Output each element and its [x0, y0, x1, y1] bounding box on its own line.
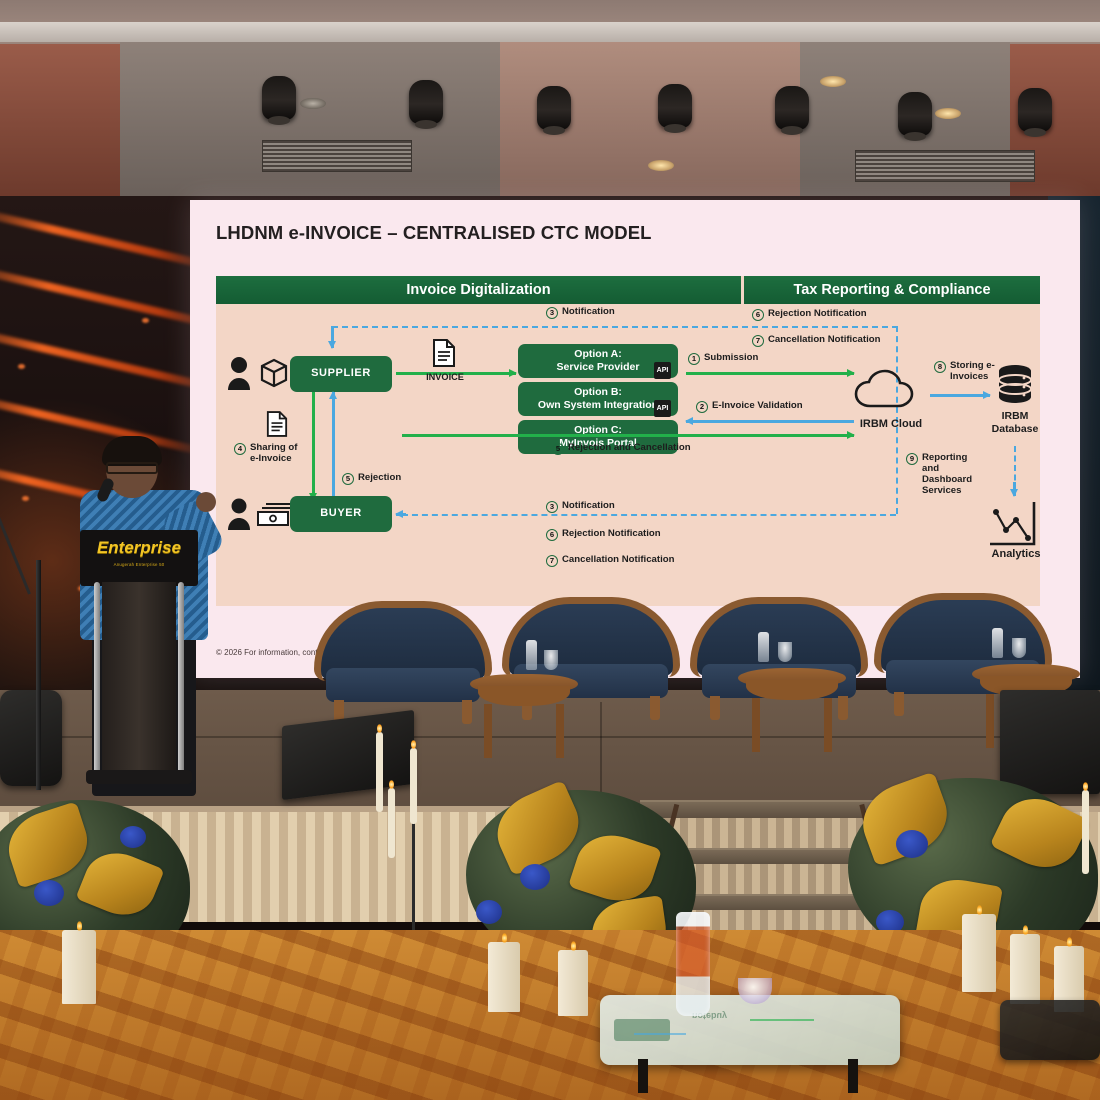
step-label: Rejection Notification	[768, 308, 867, 319]
taper-candle-2	[410, 748, 417, 824]
wall-accent-dot-4	[142, 318, 149, 323]
ctc-model-diagram: Invoice Digitalization Tax Reporting & C…	[216, 276, 1040, 606]
step-5-rejection: 5 Rejection	[342, 472, 401, 485]
step-label: Rejection and Cancellation	[568, 442, 691, 453]
podium-rail-left	[94, 582, 100, 778]
downlight-1	[300, 98, 326, 109]
pillar-candle-1	[62, 930, 96, 1004]
option-b-line2: Own System Integration	[538, 399, 658, 412]
podium-logo: Enterprise	[80, 538, 198, 558]
api-chip-icon-b: API	[654, 400, 671, 417]
foreground-glass-table: notebuy	[600, 995, 900, 1087]
node-analytics-label: Analytics	[968, 548, 1064, 560]
table-leg-left	[484, 704, 492, 758]
notification-arrow-to-buyer	[396, 513, 406, 516]
goblet	[1012, 638, 1026, 658]
step-label: Cancellation Notification	[562, 554, 674, 565]
step-label: Storing e-Invoices	[950, 360, 996, 382]
step-number: 3	[546, 307, 558, 319]
spotlight-1	[262, 76, 296, 120]
arrow-submission	[686, 372, 854, 375]
blue-flower-4	[476, 900, 502, 924]
pillar-candle-4	[962, 914, 996, 992]
step-number: 4	[234, 443, 246, 455]
wall-accent-dot-2	[22, 496, 29, 501]
pillar-candle-5	[1010, 934, 1040, 1004]
table-apron	[478, 686, 570, 706]
spotlight-2	[409, 80, 443, 124]
slide-footer-note: © 2026 For information, cont	[216, 648, 318, 657]
arrow-buyer-to-supplier	[332, 392, 335, 500]
step-4-sharing-of-einvoice: 4 Sharing of e-Invoice	[234, 442, 308, 464]
stage-monitor-right	[1000, 690, 1100, 794]
step-label: Sharing of e-Invoice	[250, 442, 308, 464]
option-b-line1: Option B:	[574, 386, 622, 399]
foreground-side-table-right	[1000, 1000, 1100, 1060]
step-number: 7	[752, 335, 764, 347]
step-label: Rejection	[358, 472, 401, 483]
irbm-database-icon	[994, 364, 1036, 406]
chair-leg-right	[650, 696, 660, 720]
podium-column	[102, 582, 176, 772]
arrow-validation	[686, 420, 854, 423]
slide-title: LHDNM e-INVOICE – CENTRALISED CTC MODEL	[216, 222, 1062, 244]
presenter-hand	[196, 492, 216, 512]
table-apron	[746, 680, 838, 700]
header-tax-reporting: Tax Reporting & Compliance	[744, 276, 1040, 304]
ceiling-beam	[0, 22, 1100, 42]
table-leg-right	[824, 698, 832, 752]
microphone-stand-pole	[36, 560, 41, 790]
glass-table-leg-left	[638, 1059, 648, 1093]
step-7-cancellation-notification-bottom: 7 Cancellation Notification	[546, 554, 674, 567]
spotlight-3	[537, 86, 571, 130]
table-leg-left	[986, 694, 994, 748]
node-buyer[interactable]: BUYER	[290, 496, 392, 532]
step-5-rejection-and-cancellation: 5 Rejection and Cancellation	[552, 442, 691, 455]
conference-stage-photo: LHDNM e-INVOICE – CENTRALISED CTC MODEL …	[0, 0, 1100, 1100]
downlight-2	[820, 76, 846, 87]
step-9-reporting-dashboard-services: 9 Reporting and Dashboard Services	[906, 452, 976, 496]
reflected-blue-arrow	[634, 1033, 686, 1035]
supplier-person-icon	[226, 356, 292, 394]
blue-flower-5	[896, 830, 928, 858]
step-2-einvoice-validation: 2 E-Invoice Validation	[696, 400, 803, 413]
taper-candle-1	[376, 732, 383, 812]
air-vent-right	[855, 150, 1035, 182]
step-3-notification-bottom: 3 Notification	[546, 500, 615, 513]
step-label: Notification	[562, 306, 615, 317]
spotlight-6	[898, 92, 932, 136]
glassware-set-2	[750, 632, 806, 668]
spotlight-7	[1018, 88, 1052, 132]
podium-base	[86, 770, 192, 784]
podium: Enterprise Anugerah Enterprise 50	[80, 530, 198, 785]
step-number: 6	[752, 309, 764, 321]
node-supplier[interactable]: SUPPLIER	[290, 356, 392, 392]
step-label: Rejection Notification	[562, 528, 661, 539]
wall-accent-dot-1	[18, 364, 25, 369]
moving-head-light	[0, 690, 62, 786]
podium-logo-subtitle: Anugerah Enterprise 50	[80, 562, 198, 567]
irbm-db-line1: IRBM	[976, 410, 1054, 423]
step-number: 5	[342, 473, 354, 485]
step-8-storing-einvoices: 8 Storing e-Invoices	[934, 360, 996, 382]
notification-dashed-bottom	[402, 514, 896, 516]
api-chip-icon-a: API	[654, 362, 671, 379]
ceiling-panel-left	[0, 44, 120, 196]
chair-leg-left	[710, 696, 720, 720]
ceiling	[0, 0, 1100, 196]
reflected-green-arrow	[750, 1019, 814, 1021]
node-irbm-database-label: IRBM Database	[976, 410, 1054, 436]
notification-arrow-to-supplier	[331, 326, 334, 348]
irbm-cloud-icon	[852, 368, 930, 412]
spotlight-5	[775, 86, 809, 130]
table-leg-right	[556, 704, 564, 758]
arrow-rejection-cancellation	[402, 434, 854, 437]
step-label: Submission	[704, 352, 758, 363]
step-1-submission: 1 Submission	[688, 352, 758, 365]
arrow-storing-einvoices	[930, 394, 990, 397]
glass-table-top: notebuy	[600, 995, 900, 1065]
taper-candle-3	[388, 788, 395, 858]
step-label: Cancellation Notification	[768, 334, 880, 345]
step-number: 9	[906, 453, 918, 465]
pillar-candle-3	[558, 950, 588, 1016]
goblet	[778, 642, 792, 662]
glassware-set-1	[520, 640, 576, 676]
step-label: E-Invoice Validation	[712, 400, 803, 411]
blue-flower-2	[120, 826, 146, 848]
panel-chair-1[interactable]	[312, 606, 494, 724]
downlight-4	[648, 160, 674, 171]
water-bottle	[526, 640, 537, 670]
step-6-rejection-notification-top: 6 Rejection Notification	[752, 308, 867, 321]
step-number: 3	[546, 501, 558, 513]
irbm-db-line2: Database	[976, 423, 1054, 436]
side-table-2	[738, 668, 846, 754]
water-bottle	[758, 632, 769, 662]
glassware-set-3	[984, 628, 1040, 664]
step-number: 8	[934, 361, 946, 373]
step-6-rejection-notification-bottom: 6 Rejection Notification	[546, 528, 661, 541]
blue-flower-3	[520, 864, 550, 890]
step-7-cancellation-notification-top: 7 Cancellation Notification	[752, 334, 880, 347]
side-table-1	[470, 674, 578, 760]
step-number: 2	[696, 401, 708, 413]
chair-seat	[326, 668, 480, 702]
arrow-supplier-to-buyer	[312, 392, 315, 500]
step-number: 7	[546, 555, 558, 567]
option-a-line1: Option A:	[574, 348, 621, 361]
goblet	[544, 650, 558, 670]
downlight-3	[935, 108, 961, 119]
notification-dashed-top	[332, 326, 898, 328]
invoice-document-icon	[432, 338, 456, 368]
step-number: 6	[546, 529, 558, 541]
water-carafe	[676, 912, 710, 1016]
buyer-person-icon	[226, 498, 292, 532]
step-label: Notification	[562, 500, 615, 511]
pillar-candle-2	[488, 942, 520, 1012]
table-leg-left	[752, 698, 760, 752]
podium-front-panel: Enterprise Anugerah Enterprise 50	[80, 530, 198, 586]
analytics-chart-icon	[986, 500, 1044, 550]
node-irbm-cloud-label: IRBM Cloud	[842, 418, 940, 430]
sharing-document-icon	[266, 410, 288, 438]
option-a-line2: Service Provider	[557, 361, 640, 374]
step-number: 5	[552, 443, 564, 455]
podium-rail-right	[178, 582, 184, 778]
wall-light-stripe-1	[0, 205, 218, 271]
header-invoice-digitalization: Invoice Digitalization	[216, 276, 744, 304]
arrow-db-to-analytics	[1013, 482, 1016, 496]
step-3-notification-top: 3 Notification	[546, 306, 615, 319]
parquet-floor	[0, 930, 1100, 1100]
presenter-glasses	[106, 462, 158, 474]
chair-leg-left	[894, 692, 904, 716]
step-number: 1	[688, 353, 700, 365]
diagram-header-row: Invoice Digitalization Tax Reporting & C…	[216, 276, 1040, 304]
spotlight-4	[658, 84, 692, 128]
blue-flower-1	[34, 880, 64, 906]
step-label: Reporting and Dashboard Services	[922, 452, 976, 496]
invoice-label: INVOICE	[416, 372, 474, 382]
reflected-green-box	[614, 1019, 670, 1041]
ceiling-bay-left	[120, 42, 500, 196]
air-vent-left	[262, 140, 412, 172]
taper-candle-4	[1082, 790, 1089, 874]
water-bottle	[992, 628, 1003, 658]
glass-table-leg-right	[848, 1059, 858, 1093]
